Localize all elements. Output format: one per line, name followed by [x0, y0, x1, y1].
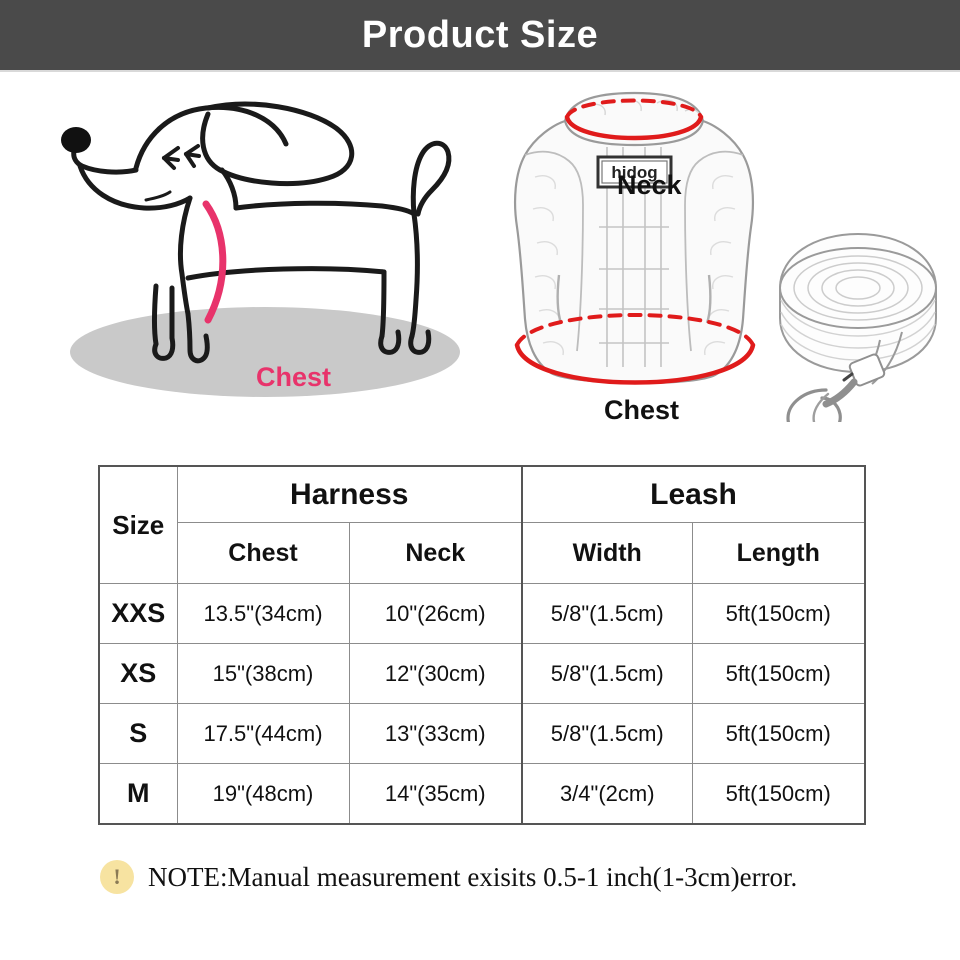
note-text: NOTE:Manual measurement exisits 0.5-1 in… [148, 862, 797, 893]
row-width-s: 5/8"(1.5cm) [522, 704, 692, 764]
row-size-m: M [99, 764, 177, 825]
page-title: Product Size [362, 14, 598, 57]
size-chart-table: Size Harness Leash Chest Neck Width Leng… [98, 465, 866, 825]
harness-illustration: hidog [495, 77, 775, 417]
table-row: XXS 13.5"(34cm) 10"(26cm) 5/8"(1.5cm) 5f… [99, 584, 865, 644]
leash-coil-top-ellipse [780, 248, 936, 328]
dog-belly-path [188, 269, 384, 278]
row-size-s: S [99, 704, 177, 764]
row-length-s: 5ft(150cm) [692, 704, 865, 764]
row-width-m: 3/4"(2cm) [522, 764, 692, 825]
row-neck-xs: 12"(30cm) [349, 644, 522, 704]
table-header-size: Size [99, 466, 177, 584]
dog-eye-icon [164, 146, 199, 168]
row-neck-m: 14"(35cm) [349, 764, 522, 825]
dog-front-leg-path [155, 286, 157, 344]
table-row: S 17.5"(44cm) 13"(33cm) 5/8"(1.5cm) 5ft(… [99, 704, 865, 764]
dog-rear-leg-path [412, 214, 417, 336]
illustration-band: hidog [0, 72, 960, 452]
table-header-harness: Harness [177, 466, 522, 523]
dog-rear-leg2-path [382, 272, 384, 336]
table-header-length: Length [692, 523, 865, 584]
dog-tail-path [413, 143, 449, 214]
dog-nose [61, 127, 91, 153]
table-header-leash: Leash [522, 466, 865, 523]
row-length-xs: 5ft(150cm) [692, 644, 865, 704]
page-header-bar: Product Size [0, 0, 960, 70]
table-header-row-subs: Chest Neck Width Length [99, 523, 865, 584]
harness-neck-label: Neck [617, 170, 682, 201]
dog-chest-path [180, 198, 190, 314]
row-width-xxs: 5/8"(1.5cm) [522, 584, 692, 644]
row-neck-s: 13"(33cm) [349, 704, 522, 764]
row-size-xxs: XXS [99, 584, 177, 644]
dog-back-path [236, 203, 414, 214]
row-size-xs: XS [99, 644, 177, 704]
dog-chest-label: Chest [256, 362, 331, 393]
row-chest-xxs: 13.5"(34cm) [177, 584, 349, 644]
table-header-width: Width [522, 523, 692, 584]
note-row: ! NOTE:Manual measurement exisits 0.5-1 … [100, 860, 797, 894]
leash-illustration [768, 222, 948, 422]
table-row: M 19"(48cm) 14"(35cm) 3/4"(2cm) 5ft(150c… [99, 764, 865, 825]
table-header-row-groups: Size Harness Leash [99, 466, 865, 523]
row-length-m: 5ft(150cm) [692, 764, 865, 825]
harness-drawing-svg: hidog [495, 77, 775, 417]
table-header-neck: Neck [349, 523, 522, 584]
row-length-xxs: 5ft(150cm) [692, 584, 865, 644]
table-header-chest: Chest [177, 523, 349, 584]
row-chest-s: 17.5"(44cm) [177, 704, 349, 764]
row-chest-xs: 15"(38cm) [177, 644, 349, 704]
warning-icon: ! [100, 860, 134, 894]
leash-hook-latch-path [844, 374, 852, 380]
row-neck-xxs: 10"(26cm) [349, 584, 522, 644]
row-width-xs: 5/8"(1.5cm) [522, 644, 692, 704]
harness-chest-label: Chest [604, 395, 679, 426]
leash-drawing-svg [768, 222, 948, 422]
table-row: XS 15"(38cm) 12"(30cm) 5/8"(1.5cm) 5ft(1… [99, 644, 865, 704]
dog-mouth-path [146, 192, 170, 200]
dog-chest-measure-arc [206, 204, 223, 320]
row-chest-m: 19"(48cm) [177, 764, 349, 825]
